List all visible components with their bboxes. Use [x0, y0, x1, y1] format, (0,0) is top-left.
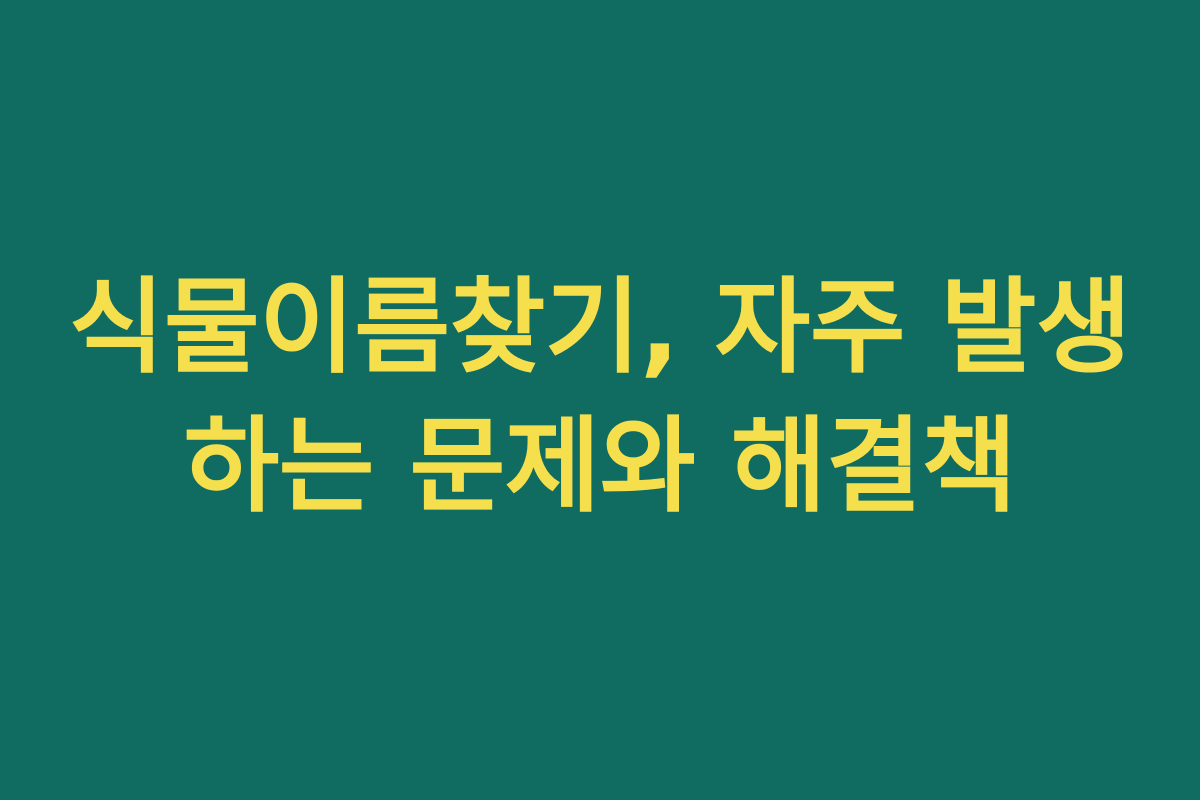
page-title: 식물이름찾기, 자주 발생 하는 문제와 해결책: [40, 258, 1160, 537]
banner-card: 식물이름찾기, 자주 발생 하는 문제와 해결책: [0, 0, 1200, 800]
headline-line-1: 식물이름찾기, 자주 발생: [40, 258, 1160, 397]
headline-line-2: 하는 문제와 해결책: [40, 397, 1160, 536]
